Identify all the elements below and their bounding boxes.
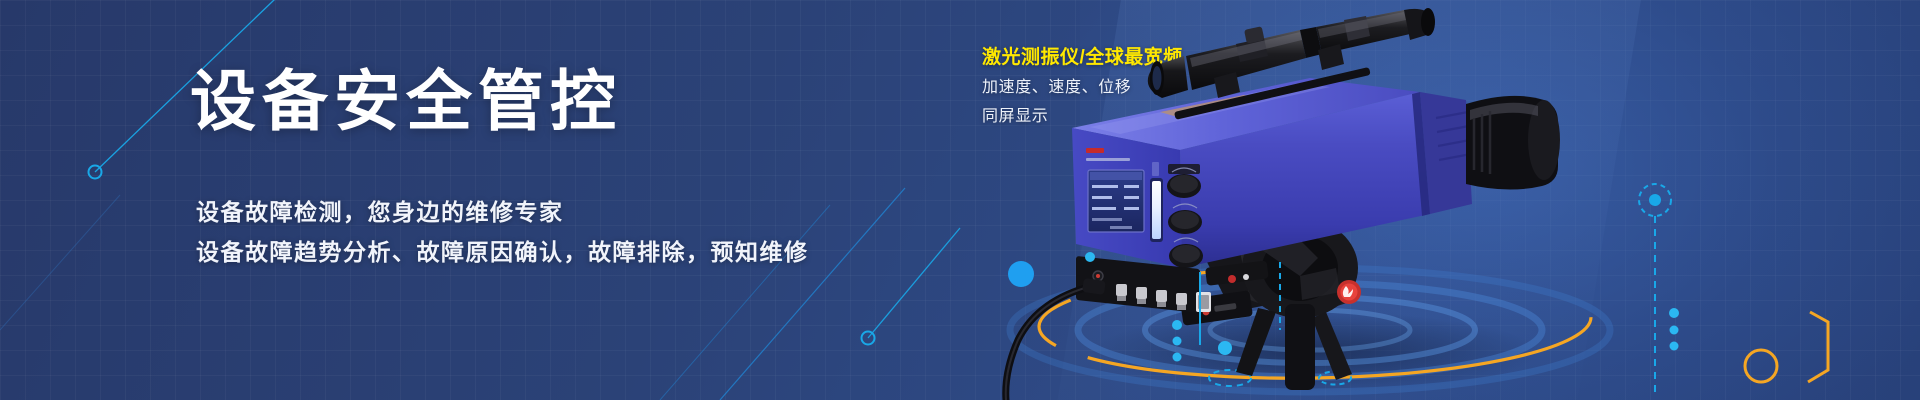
subtitle-line-1: 设备故障检测，您身边的维修专家 [196, 193, 564, 227]
headline-block: 设备安全管控 设备故障检测，您身边的维修专家 设备故障趋势分析、故障原因确认，故… [0, 0, 820, 400]
control-knobs [1167, 164, 1203, 268]
marker-right [1639, 184, 1828, 398]
subtitle-line-2: 设备故障趋势分析、故障原因确认，故障排除，预知维修 [196, 233, 809, 267]
rear-barrel [1466, 96, 1560, 190]
page-title: 设备安全管控 [190, 68, 622, 134]
device-illustration [1000, 0, 1920, 400]
hero-banner: 设备安全管控 设备故障检测，您身边的维修专家 设备故障趋势分析、故障原因确认，故… [0, 0, 1920, 400]
